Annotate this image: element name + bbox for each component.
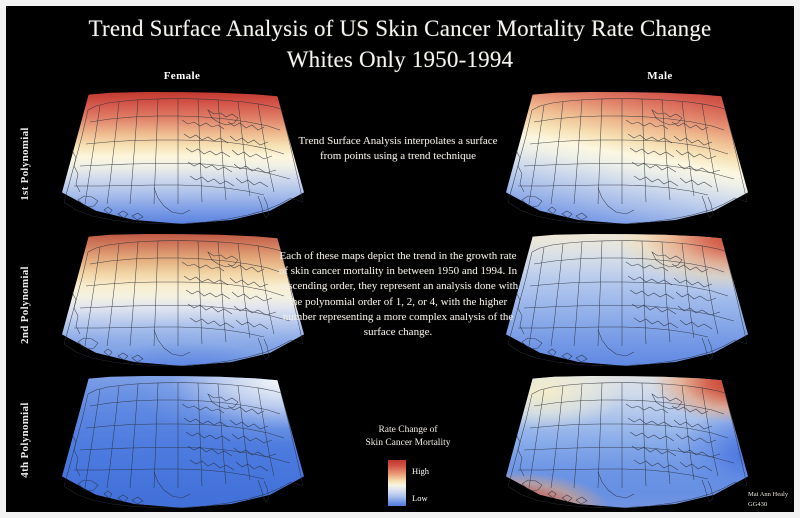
legend-color-ramp: [388, 460, 406, 506]
map-panel-male-2nd-polynomial: [506, 234, 748, 366]
page-title: Trend Surface Analysis of US Skin Cancer…: [6, 16, 794, 42]
legend-title: Rate Change of Skin Cancer Mortality: [358, 424, 458, 451]
annotation-text-second: Each of these maps depict the trend in t…: [274, 249, 522, 340]
row-label-4th-polynomial: 4th Polynomial: [19, 395, 31, 485]
map-panel-female-2nd-polynomial: [62, 234, 304, 366]
legend: Rate Change of Skin Cancer Mortality Hig…: [354, 424, 486, 506]
legend-tick-high: High: [412, 466, 429, 476]
annotation-text-first: Trend Surface Analysis interpolates a su…: [292, 134, 504, 164]
map-panel-male-4th-polynomial: [506, 376, 748, 508]
row-label-1st-polynomial: 1st Polynomial: [19, 119, 31, 209]
poster-stage: Trend Surface Analysis of US Skin Cancer…: [6, 6, 794, 512]
map-panel-female-4th-polynomial: [62, 376, 304, 508]
trend-surface-raster: [506, 234, 748, 366]
trend-surface-raster: [506, 92, 748, 224]
trend-surface-raster: [62, 234, 304, 366]
column-heading-male: Male: [620, 70, 700, 82]
trend-surface-raster: [62, 376, 304, 508]
map-panel-female-1st-polynomial: [62, 92, 304, 224]
poster-canvas: Trend Surface Analysis of US Skin Cancer…: [0, 0, 800, 518]
map-panel-male-1st-polynomial: [506, 92, 748, 224]
column-heading-female: Female: [142, 70, 222, 82]
legend-title-line1: Rate Change of: [358, 424, 458, 437]
row-label-2nd-polynomial: 2nd Polynomial: [19, 260, 31, 350]
credit-course: GG430: [748, 500, 794, 510]
credit-author: Mai Ann Healy: [748, 490, 794, 500]
trend-surface-raster: [506, 376, 748, 508]
trend-surface-raster: [62, 92, 304, 224]
credit-block: Mai Ann Healy GG430: [748, 490, 794, 510]
legend-title-line2: Skin Cancer Mortality: [358, 437, 458, 450]
legend-ramp-wrapper: High Low: [388, 460, 406, 506]
legend-tick-low: Low: [412, 493, 428, 503]
